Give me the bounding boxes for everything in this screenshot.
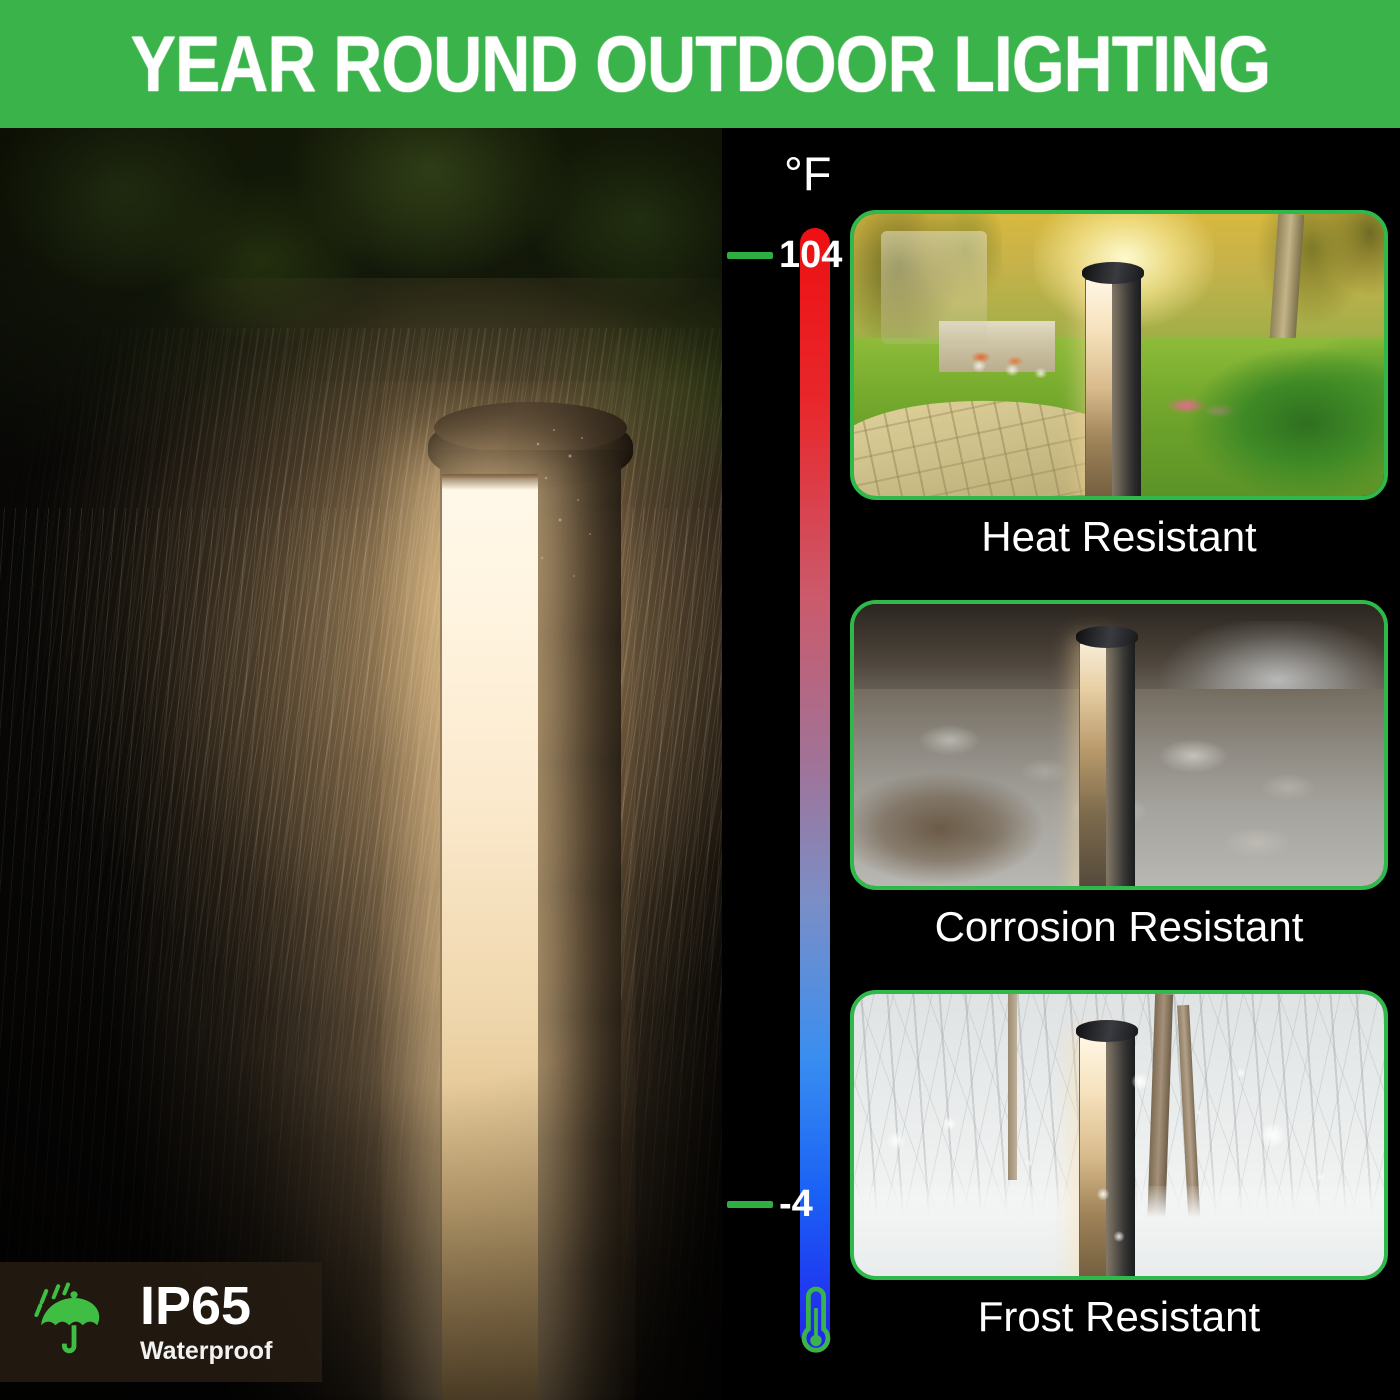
page-title: YEAR ROUND OUTDOOR LIGHTING [130,19,1269,109]
bollard-cap [1082,262,1144,284]
garden-flower-pots [960,338,1055,377]
bollard-light-lens [1086,280,1112,500]
card-photo-frost [850,990,1388,1280]
ip65-rating: IP65 [140,1279,272,1333]
temperature-low-label: -4 [779,1185,813,1223]
card-label-corrosion: Corrosion Resistant [850,904,1388,950]
card-label-heat: Heat Resistant [850,514,1388,560]
hero-vignette [0,128,722,1400]
card-label-frost: Frost Resistant [850,1294,1388,1340]
bollard-light-heat [1082,262,1144,500]
ip65-text-group: IP65 Waterproof [140,1279,272,1366]
feature-card-heat-resistant[interactable]: Heat Resistant [850,210,1388,560]
card-photo-corrosion [850,600,1388,890]
features-panel: °F 104 -4 [722,128,1400,1400]
hero-photo: IP65 Waterproof [0,128,722,1400]
falling-snowflakes [854,994,1384,1276]
umbrella-rain-icon [34,1282,114,1362]
feature-card-frost-resistant[interactable]: Frost Resistant [850,990,1388,1340]
tick-mark-high [727,252,773,259]
temperature-high-label: 104 [779,236,842,274]
card-photo-heat [850,210,1388,500]
ip65-waterproof-badge: IP65 Waterproof [0,1262,322,1382]
temperature-scale: °F 104 -4 [722,128,862,1400]
bollard-cap [1076,626,1138,648]
header-banner: YEAR ROUND OUTDOOR LIGHTING [0,0,1400,128]
garden-swing [881,231,987,344]
bollard-light-lens [1080,644,1106,890]
bollard-light-corrosion [1076,626,1138,890]
thermometer-icon [795,1283,837,1358]
infographic-page: YEAR ROUND OUTDOOR LIGHTING [0,0,1400,1400]
ip65-subtitle: Waterproof [140,1337,272,1366]
temperature-gradient-bar [800,228,830,1348]
temperature-unit-label: °F [784,150,854,197]
feature-card-corrosion-resistant[interactable]: Corrosion Resistant [850,600,1388,950]
feature-card-list: Heat Resistant Co [850,128,1400,1400]
terrain-dirt [850,751,1087,890]
garden-shrub [1172,327,1388,500]
tick-mark-low [727,1201,773,1208]
